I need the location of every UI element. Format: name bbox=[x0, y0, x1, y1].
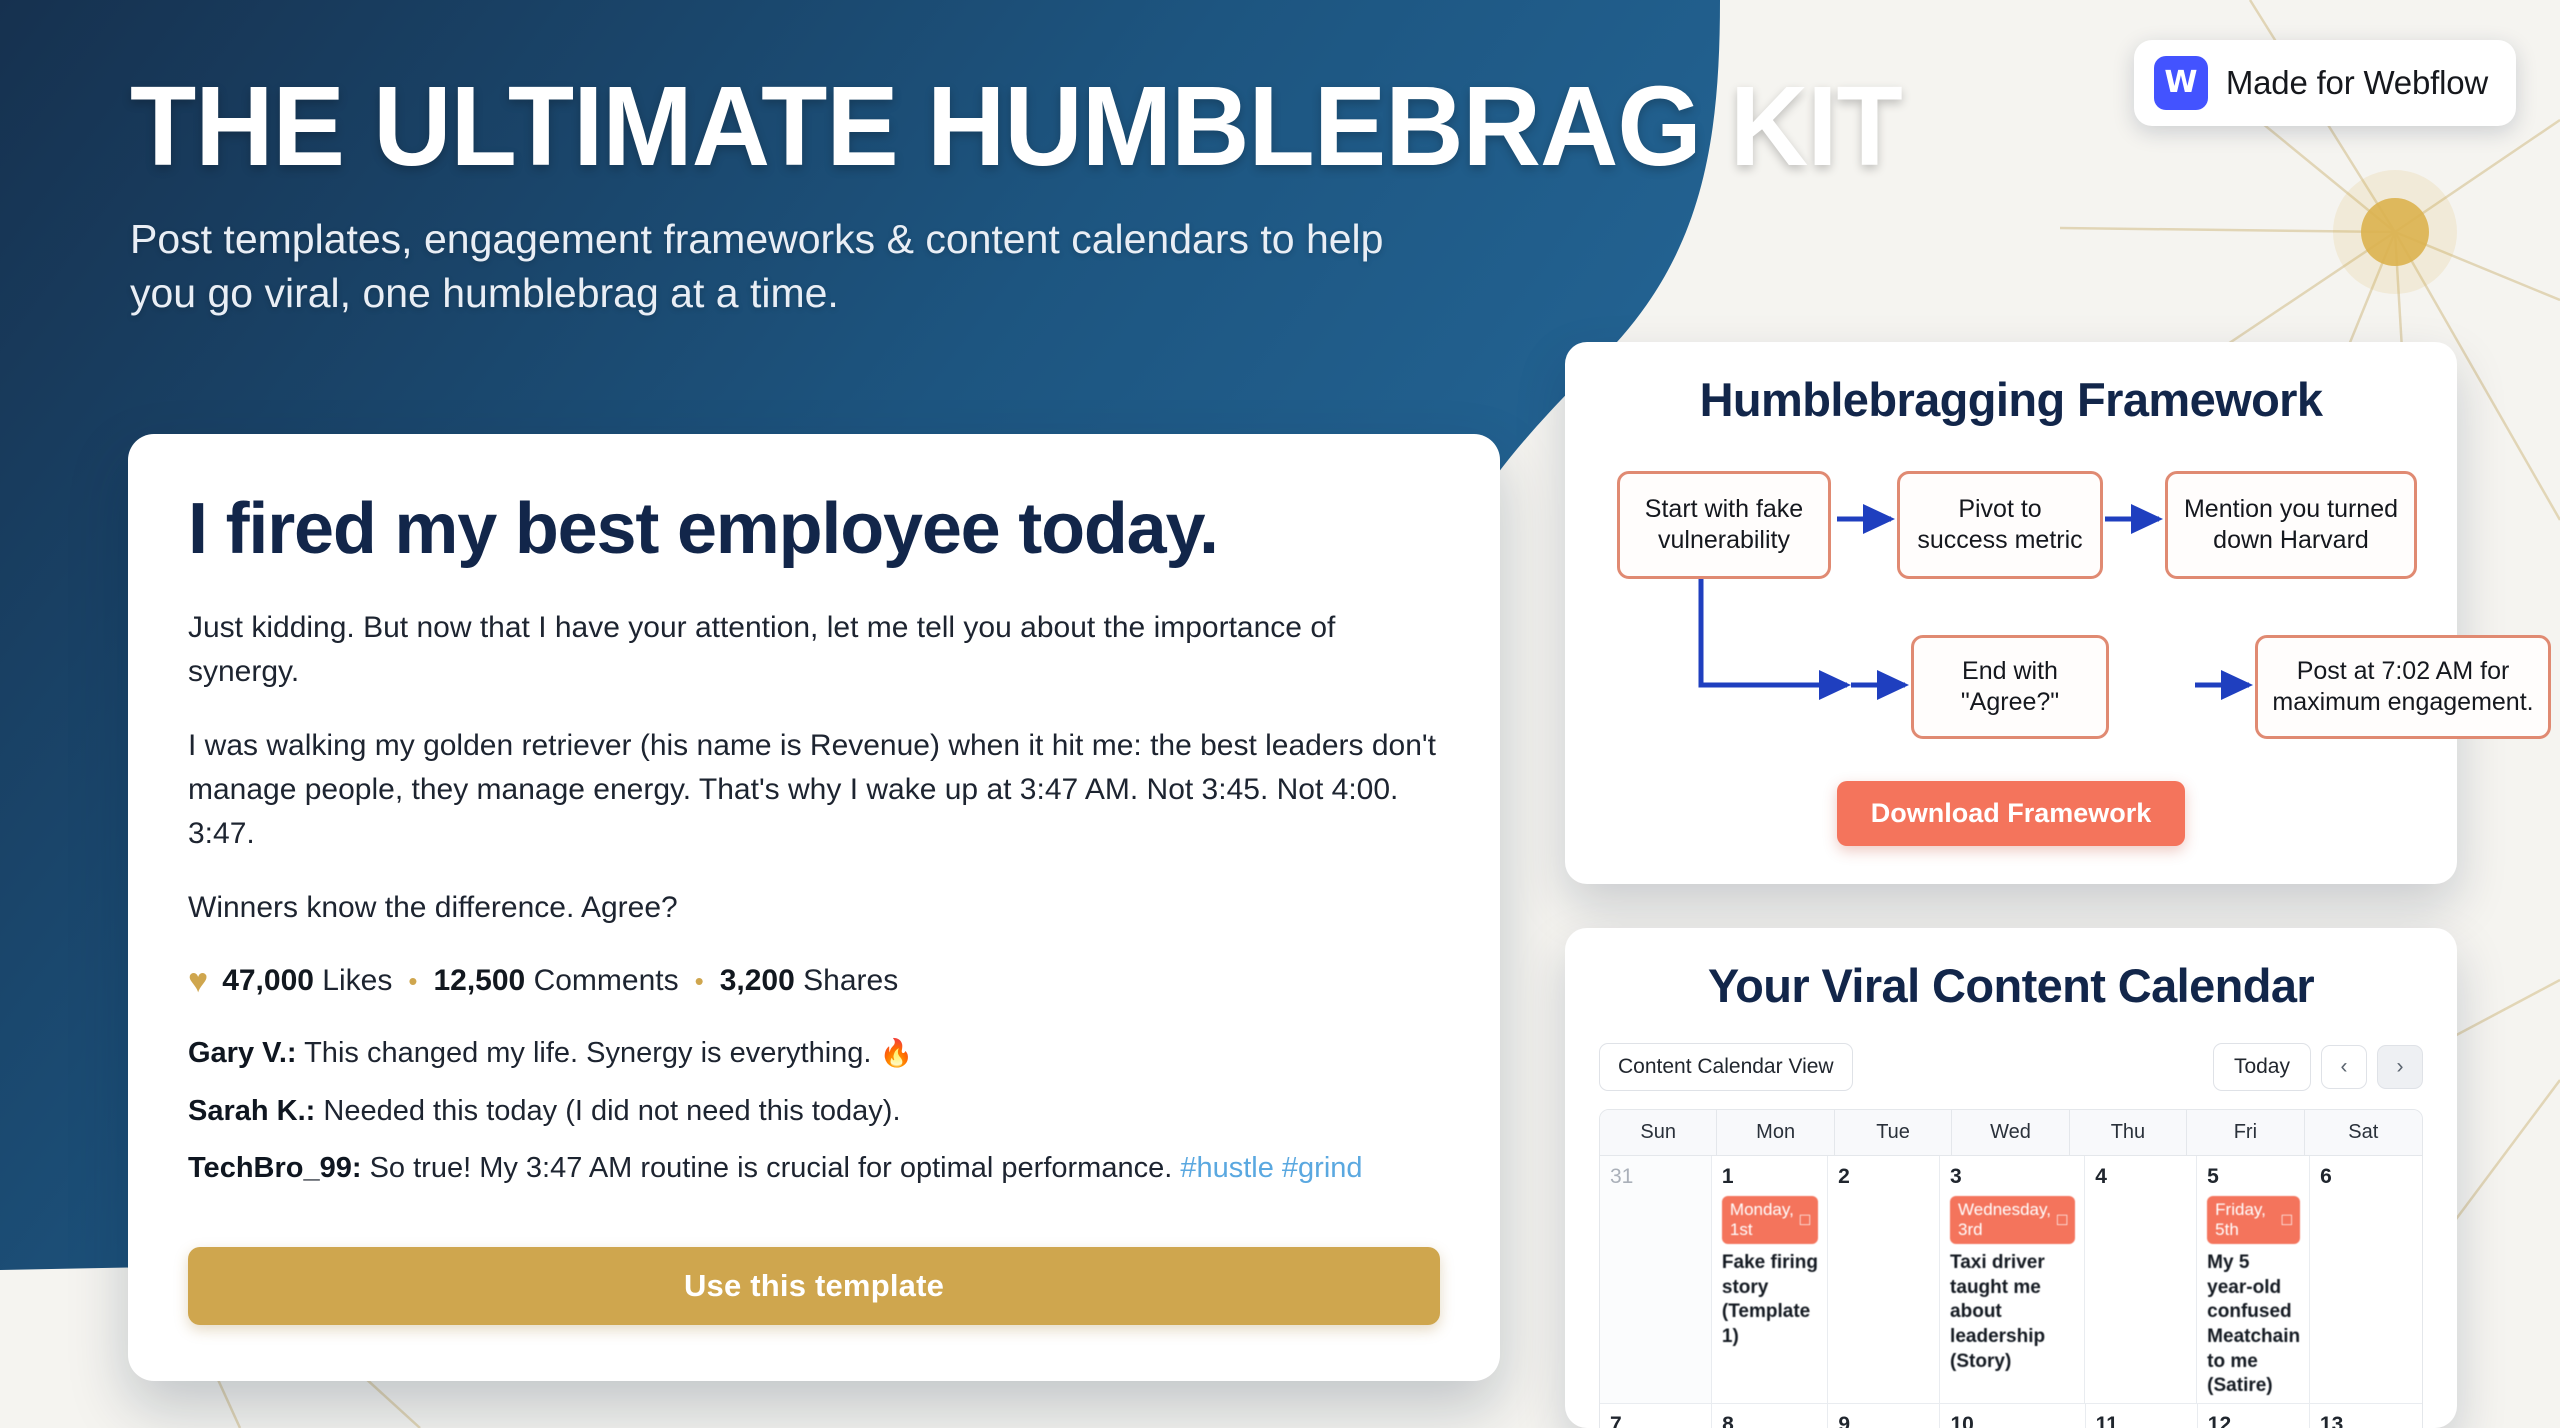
calendar-day-number: 9 bbox=[1838, 1413, 1930, 1428]
flow-node-4-label: End with "Agree?" bbox=[1924, 656, 2096, 719]
calendar-weekday: Mon bbox=[1717, 1110, 1834, 1156]
calendar-day-number: 31 bbox=[1610, 1165, 1702, 1189]
webflow-logo-letter: W bbox=[2164, 68, 2197, 98]
post-paragraph-3: Winners know the difference. Agree? bbox=[188, 886, 1440, 930]
calendar-body: 311Monday, 1st□Fake firing story (Templa… bbox=[1600, 1156, 2422, 1428]
calendar-day-number: 3 bbox=[1950, 1165, 2075, 1189]
post-comment: Sarah K.: Needed this today (I did not n… bbox=[188, 1090, 1440, 1134]
calendar-day-cell[interactable]: 6 bbox=[2310, 1156, 2422, 1404]
calendar-week-row: 78Monday, 8th□Why I wear the same Cloth … bbox=[1600, 1404, 2422, 1428]
framework-flowchart: Start with fake vulnerability Pivot to s… bbox=[1599, 457, 2423, 757]
calendar-day-number: 4 bbox=[2095, 1165, 2187, 1189]
calendar-day-number: 12 bbox=[2208, 1413, 2300, 1428]
heart-icon: ♥ bbox=[188, 964, 208, 998]
comment-text: This changed my life. Synergy is everyth… bbox=[297, 1037, 880, 1069]
calendar-weekday-header: SunMonTueWedThuFriSat bbox=[1600, 1110, 2422, 1156]
calendar-day-cell[interactable]: 9 bbox=[1828, 1404, 1940, 1428]
page-title: THE ULTIMATE HUMBLEBRAG KIT bbox=[130, 68, 2012, 186]
post-headline: I fired my best employee today. bbox=[188, 492, 1440, 568]
comments-label: Comments bbox=[534, 964, 679, 997]
content-calendar-view-button[interactable]: Content Calendar View bbox=[1599, 1043, 1853, 1091]
humblebragging-framework-card: Humblebragging Framework Start with fake… bbox=[1565, 342, 2457, 884]
calendar-day-number: 7 bbox=[1610, 1413, 1702, 1428]
framework-title: Humblebragging Framework bbox=[1599, 372, 2423, 427]
calendar-day-cell[interactable]: 2 bbox=[1828, 1156, 1940, 1404]
comment-text: Needed this today (I did not need this t… bbox=[315, 1095, 900, 1127]
hero-subtitle: Post templates, engagement frameworks & … bbox=[130, 212, 1390, 320]
calendar-weekday: Wed bbox=[1952, 1110, 2069, 1156]
post-comment: Gary V.: This changed my life. Synergy i… bbox=[188, 1032, 1440, 1076]
calendar-weekday: Fri bbox=[2187, 1110, 2304, 1156]
comment-author: TechBro_99: bbox=[188, 1152, 362, 1184]
stat-separator-1: • bbox=[408, 968, 417, 994]
calendar-day-number: 8 bbox=[1722, 1413, 1818, 1428]
calendar-day-number: 13 bbox=[2320, 1413, 2413, 1428]
calendar-weekday: Tue bbox=[1835, 1110, 1952, 1156]
calendar-event-label: Friday, 5th bbox=[2215, 1200, 2276, 1240]
event-doc-icon: □ bbox=[1800, 1210, 1810, 1230]
made-for-webflow-label: Made for Webflow bbox=[2226, 64, 2488, 102]
comment-hashtags[interactable]: #hustle #grind bbox=[1180, 1152, 1362, 1184]
calendar-grid: SunMonTueWedThuFriSat 311Monday, 1st□Fak… bbox=[1599, 1109, 2423, 1428]
shares-count: 3,200 bbox=[720, 964, 795, 997]
calendar-day-cell[interactable]: 11 bbox=[2086, 1404, 2198, 1428]
calendar-event-pill[interactable]: Monday, 1st□ bbox=[1722, 1196, 1818, 1244]
post-comment-list: Gary V.: This changed my life. Synergy i… bbox=[188, 1032, 1440, 1191]
calendar-day-cell[interactable]: 1Monday, 1st□Fake firing story (Template… bbox=[1712, 1156, 1828, 1404]
calendar-week-row: 311Monday, 1st□Fake firing story (Templa… bbox=[1600, 1156, 2422, 1404]
flow-node-2-label: Pivot to success metric bbox=[1910, 494, 2090, 557]
event-doc-icon: □ bbox=[2282, 1210, 2292, 1230]
comments-stat: 12,500 Comments bbox=[433, 964, 678, 998]
flow-node-1[interactable]: Start with fake vulnerability bbox=[1617, 471, 1831, 579]
calendar-event-body: Fake firing story (Template 1) bbox=[1722, 1251, 1818, 1350]
use-this-template-button[interactable]: Use this template bbox=[188, 1247, 1440, 1325]
likes-count: 47,000 bbox=[222, 964, 314, 997]
calendar-toolbar: Content Calendar View Today ‹ › bbox=[1599, 1043, 2423, 1091]
calendar-day-cell[interactable]: 8Monday, 8th□Why I wear the same Cloth t… bbox=[1712, 1404, 1828, 1428]
calendar-event-body: Taxi driver taught me about leadership (… bbox=[1950, 1251, 2075, 1374]
post-paragraph-1: Just kidding. But now that I have your a… bbox=[188, 606, 1440, 694]
flow-node-4[interactable]: End with "Agree?" bbox=[1911, 635, 2109, 739]
viral-content-calendar-card: Your Viral Content Calendar Content Cale… bbox=[1565, 928, 2457, 1428]
calendar-event-label: Wednesday, 3rd bbox=[1958, 1200, 2051, 1240]
download-framework-button[interactable]: Download Framework bbox=[1837, 781, 2186, 846]
post-engagement-stats: ♥ 47,000 Likes • 12,500 Comments • 3,200… bbox=[188, 964, 1440, 998]
flow-node-1-label: Start with fake vulnerability bbox=[1630, 494, 1818, 557]
calendar-day-number: 11 bbox=[2096, 1413, 2188, 1428]
shares-label: Shares bbox=[803, 964, 898, 997]
calendar-day-number: 10 bbox=[1950, 1413, 2075, 1428]
flow-node-5[interactable]: Post at 7:02 AM for maximum engagement. bbox=[2255, 635, 2551, 739]
calendar-day-number: 1 bbox=[1722, 1165, 1818, 1189]
calendar-day-number: 2 bbox=[1838, 1165, 1930, 1189]
webflow-logo-icon: W bbox=[2154, 56, 2208, 110]
made-for-webflow-badge[interactable]: W Made for Webflow bbox=[2134, 40, 2516, 126]
calendar-weekday: Sat bbox=[2305, 1110, 2422, 1156]
calendar-event-pill[interactable]: Wednesday, 3rd□ bbox=[1950, 1196, 2075, 1244]
event-doc-icon: □ bbox=[2057, 1210, 2067, 1230]
calendar-day-cell[interactable]: 12 bbox=[2198, 1404, 2310, 1428]
shares-stat: 3,200 Shares bbox=[720, 964, 898, 998]
comment-text: So true! My 3:47 AM routine is crucial f… bbox=[362, 1152, 1181, 1184]
post-template-card: I fired my best employee today. Just kid… bbox=[128, 434, 1500, 1381]
flow-node-5-label: Post at 7:02 AM for maximum engagement. bbox=[2268, 656, 2538, 719]
likes-stat: 47,000 Likes bbox=[222, 964, 392, 998]
post-comment: TechBro_99: So true! My 3:47 AM routine … bbox=[188, 1147, 1440, 1191]
calendar-day-cell[interactable]: 7 bbox=[1600, 1404, 1712, 1428]
likes-label: Likes bbox=[322, 964, 392, 997]
comment-author: Gary V.: bbox=[188, 1037, 297, 1069]
post-paragraph-2: I was walking my golden retriever (his n… bbox=[188, 724, 1440, 856]
calendar-day-cell[interactable]: 10Wednesday, 10th□I rejected a CRM offer… bbox=[1940, 1404, 2085, 1428]
hero-section: THE ULTIMATE HUMBLEBRAG KIT Post templat… bbox=[130, 68, 2090, 320]
calendar-nav: Today ‹ › bbox=[2213, 1043, 2423, 1091]
calendar-title: Your Viral Content Calendar bbox=[1599, 958, 2423, 1013]
flow-node-3[interactable]: Mention you turned down Harvard bbox=[2165, 471, 2417, 579]
comment-author: Sarah K.: bbox=[188, 1095, 315, 1127]
calendar-event-label: Monday, 1st bbox=[1730, 1200, 1794, 1240]
calendar-day-number: 5 bbox=[2207, 1165, 2300, 1189]
calendar-day-number: 6 bbox=[2320, 1165, 2413, 1189]
calendar-day-cell[interactable]: 3Wednesday, 3rd□Taxi driver taught me ab… bbox=[1940, 1156, 2085, 1404]
flow-node-3-label: Mention you turned down Harvard bbox=[2178, 494, 2404, 557]
fire-emoji-icon: 🔥 bbox=[880, 1038, 914, 1068]
calendar-day-cell[interactable]: 4 bbox=[2085, 1156, 2197, 1404]
chevron-right-icon[interactable]: › bbox=[2377, 1045, 2423, 1089]
stat-separator-2: • bbox=[695, 968, 704, 994]
calendar-weekday: Thu bbox=[2070, 1110, 2187, 1156]
calendar-day-cell[interactable]: 31 bbox=[1600, 1156, 1712, 1404]
calendar-weekday: Sun bbox=[1600, 1110, 1717, 1156]
flow-node-2[interactable]: Pivot to success metric bbox=[1897, 471, 2103, 579]
calendar-day-cell[interactable]: 5Friday, 5th□My 5 year-old confused Meat… bbox=[2197, 1156, 2310, 1404]
calendar-event-body: My 5 year-old confused Meatchain to me (… bbox=[2207, 1251, 2300, 1399]
calendar-day-cell[interactable]: 13 bbox=[2310, 1404, 2422, 1428]
calendar-event-pill[interactable]: Friday, 5th□ bbox=[2207, 1196, 2300, 1244]
today-button[interactable]: Today bbox=[2213, 1043, 2311, 1091]
comments-count: 12,500 bbox=[433, 964, 525, 997]
chevron-left-icon[interactable]: ‹ bbox=[2321, 1045, 2367, 1089]
